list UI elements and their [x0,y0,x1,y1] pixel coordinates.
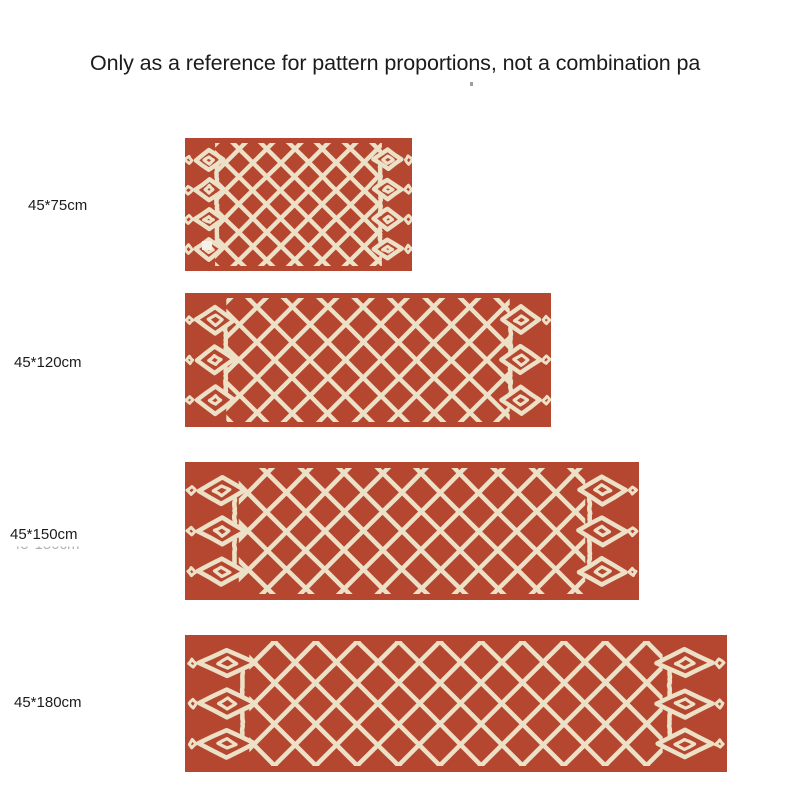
page-title: Only as a reference for pattern proporti… [90,48,800,78]
size-label-45x180: 45*180cm [14,694,82,712]
size-label-45x120: 45*120cm [14,354,82,372]
rug-swatch-45x120[interactable] [185,293,551,427]
rug-swatch-45x75[interactable] [185,138,412,271]
size-label-45x150: 45*150cm [10,526,78,544]
rug-swatch-45x150[interactable] [185,462,639,600]
size-label-45x75: 45*75cm [28,197,87,215]
white-speck-artifact [202,241,212,250]
stray-dot-artifact [470,82,473,86]
rug-swatch-45x180[interactable] [185,635,727,772]
reference-sheet: Only as a reference for pattern proporti… [0,0,800,800]
